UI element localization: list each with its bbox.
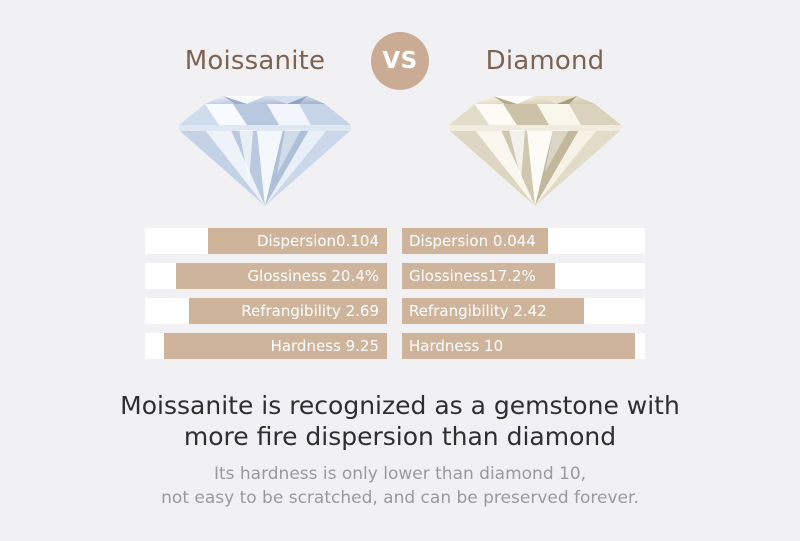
left-bar-fill-hardness: Hardness 9.25 bbox=[164, 333, 387, 359]
subline-line-2: not easy to be scratched, and can be pre… bbox=[0, 486, 800, 510]
left-bar-track: Hardness 9.25 bbox=[145, 333, 387, 359]
right-bar-fill-glossiness: Glossiness17.2% bbox=[402, 263, 555, 289]
left-bar-fill-glossiness: Glossiness 20.4% bbox=[176, 263, 387, 289]
bar-row: Dispersion0.104 Dispersion 0.044 bbox=[145, 228, 645, 254]
left-bar-track: Refrangibility 2.69 bbox=[145, 298, 387, 324]
headline-line-1: Moissanite is recognized as a gemstone w… bbox=[0, 390, 800, 421]
right-bar-track: Hardness 10 bbox=[402, 333, 645, 359]
left-gem-title: Moissanite bbox=[145, 46, 365, 76]
moissanite-gem-icon bbox=[175, 90, 355, 208]
right-bar-track: Refrangibility 2.42 bbox=[402, 298, 645, 324]
diamond-gem-icon bbox=[445, 90, 625, 208]
footer-text-block: Moissanite is recognized as a gemstone w… bbox=[0, 390, 800, 510]
left-bar-track: Dispersion0.104 bbox=[145, 228, 387, 254]
right-bar-track: Glossiness17.2% bbox=[402, 263, 645, 289]
left-gem-slot bbox=[130, 84, 400, 214]
gem-images-row bbox=[0, 84, 800, 214]
right-bar-track: Dispersion 0.044 bbox=[402, 228, 645, 254]
left-bar-fill-refrangibility: Refrangibility 2.69 bbox=[189, 298, 387, 324]
vs-badge: VS bbox=[371, 32, 429, 90]
bar-row: Glossiness 20.4% Glossiness17.2% bbox=[145, 263, 645, 289]
right-bar-fill-hardness: Hardness 10 bbox=[402, 333, 635, 359]
left-bar-track: Glossiness 20.4% bbox=[145, 263, 387, 289]
left-bar-fill-dispersion: Dispersion0.104 bbox=[208, 228, 387, 254]
moissanite-vs-diamond-infographic: Moissanite VS Diamond bbox=[0, 0, 800, 541]
comparison-bars: Dispersion0.104 Dispersion 0.044 Glossin… bbox=[145, 228, 645, 368]
subline-line-1: Its hardness is only lower than diamond … bbox=[0, 462, 800, 486]
right-bar-fill-dispersion: Dispersion 0.044 bbox=[402, 228, 548, 254]
right-gem-slot bbox=[400, 84, 670, 214]
right-bar-fill-refrangibility: Refrangibility 2.42 bbox=[402, 298, 584, 324]
bar-row: Refrangibility 2.69 Refrangibility 2.42 bbox=[145, 298, 645, 324]
right-gem-title: Diamond bbox=[435, 46, 655, 76]
headline-line-2: more fire dispersion than diamond bbox=[0, 421, 800, 452]
bar-row: Hardness 9.25 Hardness 10 bbox=[145, 333, 645, 359]
